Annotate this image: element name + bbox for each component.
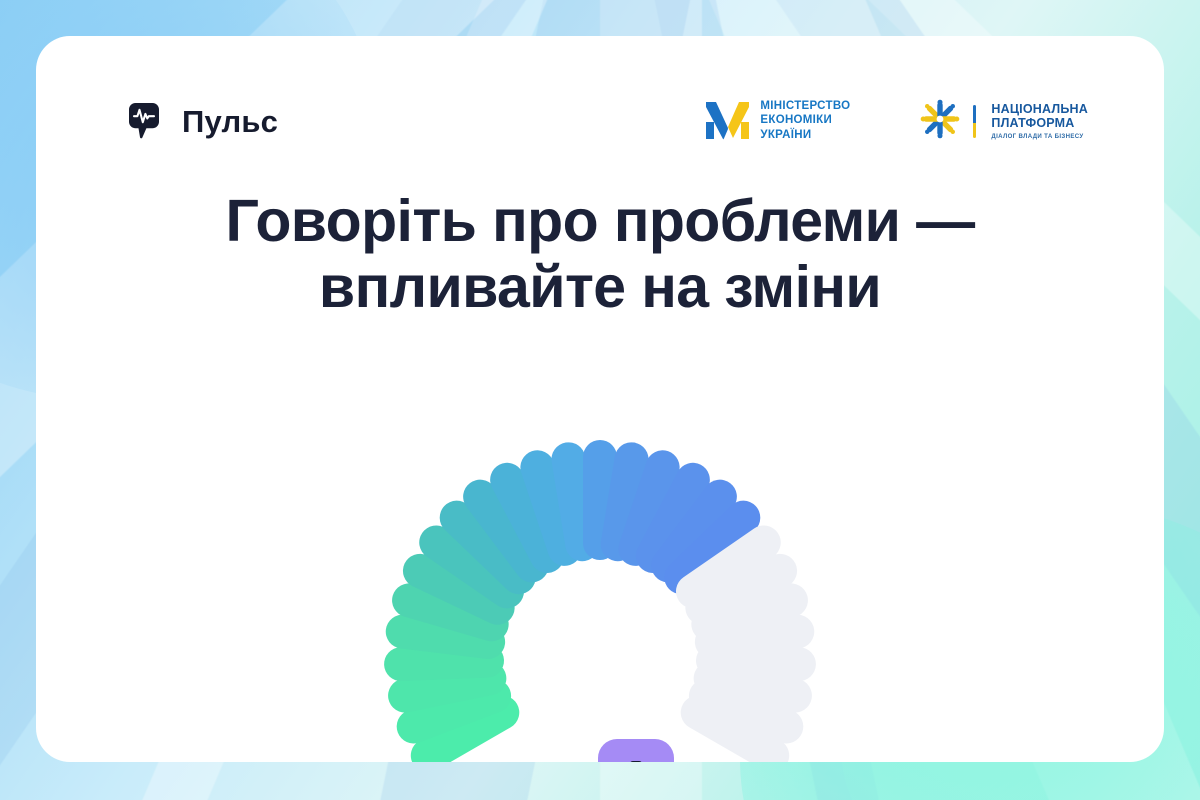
tile-business[interactable]: [598, 739, 674, 762]
brand-lockup[interactable]: Пульс: [122, 99, 278, 143]
content-card: Пульс: [36, 36, 1164, 762]
partner-national-platform[interactable]: НАЦІОНАЛЬНА ПЛАТФОРМА ДІАЛОГ ВЛАДИ ТА БІ…: [918, 97, 1088, 146]
headline-line-1: Говоріть про проблеми —: [225, 188, 974, 254]
ministry-name: МІНІСТЕРСТВО ЕКОНОМІКИ УКРАЇНИ: [760, 100, 850, 143]
partner-logos: МІНІСТЕРСТВО ЕКОНОМІКИ УКРАЇНИ: [704, 97, 1110, 146]
national-platform-mark-icon: [918, 97, 962, 146]
national-platform-name: НАЦІОНАЛЬНА ПЛАТФОРМА ДІАЛОГ ВЛАДИ ТА БІ…: [991, 102, 1088, 140]
np-line-2: ПЛАТФОРМА: [991, 116, 1088, 130]
gauge-ticks: [290, 366, 910, 746]
ministry-m-mark-icon: [704, 98, 751, 145]
brand-name: Пульс: [182, 106, 278, 137]
page-title: Говоріть про проблеми — впливайте на змі…: [36, 188, 1164, 320]
np-line-1: НАЦІОНАЛЬНА: [991, 102, 1088, 116]
national-platform-divider: [973, 105, 976, 138]
ministry-line-1: МІНІСТЕРСТВО: [760, 100, 850, 114]
np-subtitle: ДІАЛОГ ВЛАДИ ТА БІЗНЕСУ: [991, 133, 1088, 140]
partner-ministry-of-economy[interactable]: МІНІСТЕРСТВО ЕКОНОМІКИ УКРАЇНИ: [704, 98, 850, 145]
poster-background: Пульс: [0, 0, 1200, 800]
radial-gauge-illustration: [36, 366, 1164, 746]
pulse-chat-icon: [122, 99, 166, 143]
header: Пульс: [36, 88, 1164, 154]
ministry-line-3: УКРАЇНИ: [760, 129, 850, 143]
briefcase-icon: [614, 758, 658, 762]
headline-line-2: впливайте на зміни: [106, 254, 1094, 320]
ministry-line-2: ЕКОНОМІКИ: [760, 114, 850, 128]
